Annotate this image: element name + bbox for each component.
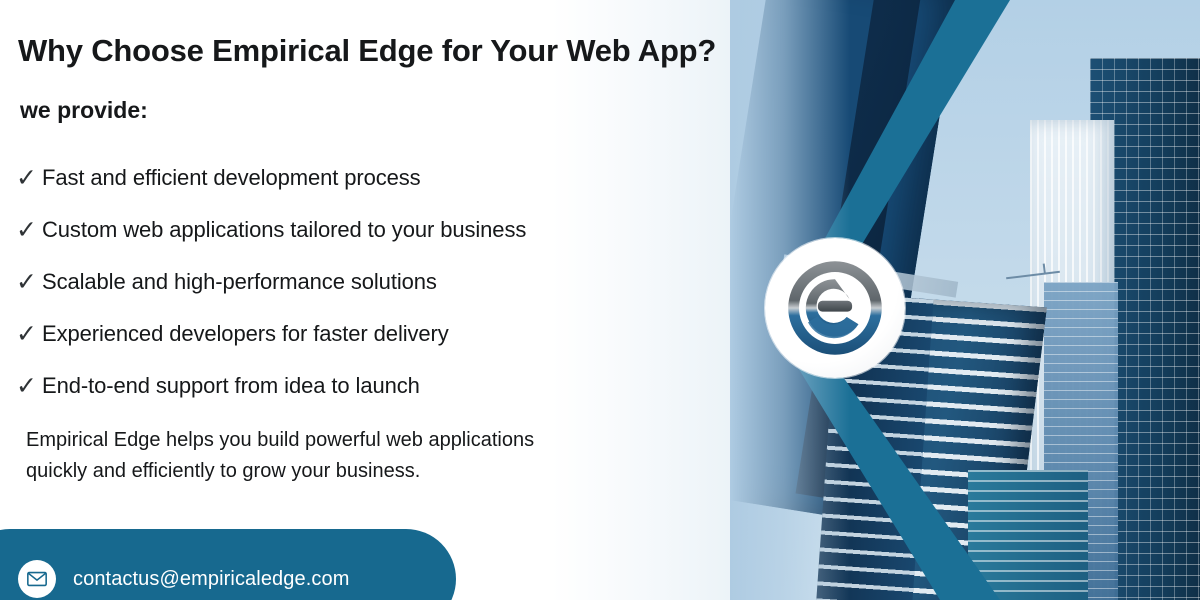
list-item-label: Scalable and high-performance solutions <box>42 269 437 295</box>
list-item-label: Custom web applications tailored to your… <box>42 217 526 243</box>
list-item: ✓ Scalable and high-performance solution… <box>16 256 526 308</box>
closing-paragraph: Empirical Edge helps you build powerful … <box>26 425 534 487</box>
check-icon: ✓ <box>16 322 42 347</box>
page-title: Why Choose Empirical Edge for Your Web A… <box>18 33 716 69</box>
promo-banner: Why Choose Empirical Edge for Your Web A… <box>0 0 1200 600</box>
list-item: ✓ End-to-end support from idea to launch <box>16 360 526 412</box>
skyscraper-low-block <box>968 470 1088 600</box>
envelope-icon <box>18 560 56 598</box>
contact-pill[interactable]: contactus@empiricaledge.com <box>0 529 456 600</box>
list-item: ✓ Experienced developers for faster deli… <box>16 308 526 360</box>
closing-line-2: quickly and efficiently to grow your bus… <box>26 456 534 487</box>
list-item-label: End-to-end support from idea to launch <box>42 373 420 399</box>
closing-line-1: Empirical Edge helps you build powerful … <box>26 425 534 456</box>
check-icon: ✓ <box>16 218 42 243</box>
check-icon: ✓ <box>16 374 42 399</box>
list-item-label: Fast and efficient development process <box>42 165 421 191</box>
benefits-list: ✓ Fast and efficient development process… <box>16 152 526 412</box>
empirical-edge-logo-badge <box>765 238 905 378</box>
list-item: ✓ Custom web applications tailored to yo… <box>16 204 526 256</box>
subheading: we provide: <box>20 97 148 124</box>
check-icon: ✓ <box>16 270 42 295</box>
check-icon: ✓ <box>16 166 42 191</box>
list-item: ✓ Fast and efficient development process <box>16 152 526 204</box>
logo-e-icon <box>781 254 889 362</box>
list-item-label: Experienced developers for faster delive… <box>42 321 449 347</box>
contact-email-label: contactus@empiricaledge.com <box>73 568 349 591</box>
